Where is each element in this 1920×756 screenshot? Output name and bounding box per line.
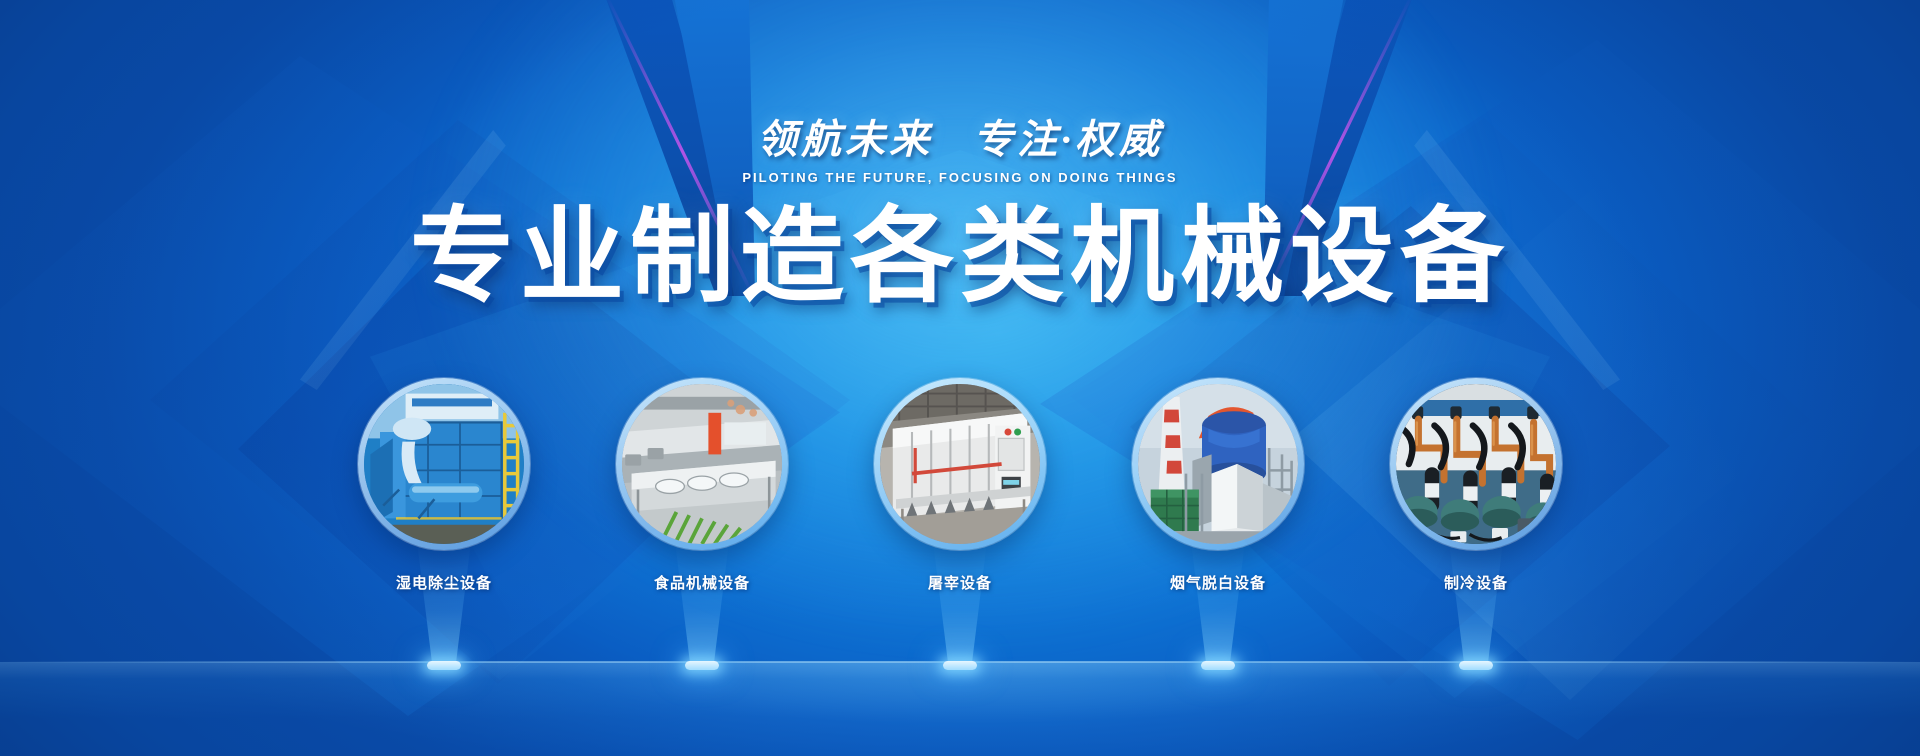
product-item-refrigeration[interactable]: 制冷设备: [1370, 378, 1582, 593]
page-title: 专业制造各类机械设备: [0, 201, 1920, 313]
product-item-slaughtering[interactable]: 屠宰设备: [854, 378, 1066, 593]
food-machinery-photo: [622, 384, 782, 544]
floor-lamp-icon: [1201, 661, 1235, 670]
product-photo-ring: [874, 378, 1046, 550]
product-circle-row: 湿电除尘设备: [0, 378, 1920, 593]
floor-lamp-icon: [1459, 661, 1493, 670]
tagline-chinese-right: 专注·权威: [973, 117, 1163, 162]
floor-lamp-icon: [685, 661, 719, 670]
product-label: 制冷设备: [1444, 572, 1508, 593]
product-photo-ring: [616, 378, 788, 550]
product-photo-ring: [1390, 378, 1562, 550]
wet-electrostatic-precipitator-photo: [364, 384, 524, 544]
product-label: 湿电除尘设备: [396, 572, 492, 593]
stage-floor-reflection: [0, 663, 1920, 756]
headline-block: 领航未来专注·权威 PILOTING THE FUTURE, FOCUSING …: [0, 120, 1920, 313]
refrigeration-equipment-photo: [1396, 384, 1556, 544]
floor-lamp-icon: [427, 661, 461, 670]
floor-lamp-icon: [943, 661, 977, 670]
tagline-chinese: 领航未来专注·权威: [0, 120, 1920, 160]
product-label: 烟气脱白设备: [1170, 572, 1266, 593]
product-item-flue-gas[interactable]: 烟气脱白设备: [1112, 378, 1324, 593]
product-item-wet-dust-removal[interactable]: 湿电除尘设备: [338, 378, 550, 593]
flue-gas-dewhitening-photo: [1138, 384, 1298, 544]
tagline-english: PILOTING THE FUTURE, FOCUSING ON DOING T…: [0, 170, 1920, 185]
slaughtering-equipment-photo: [880, 384, 1040, 544]
promotional-banner: 领航未来专注·权威 PILOTING THE FUTURE, FOCUSING …: [0, 0, 1920, 756]
product-photo-ring: [1132, 378, 1304, 550]
tagline-chinese-left: 领航未来: [757, 117, 933, 162]
product-label: 屠宰设备: [928, 572, 992, 593]
product-item-food-machinery[interactable]: 食品机械设备: [596, 378, 808, 593]
product-photo-ring: [358, 378, 530, 550]
product-label: 食品机械设备: [654, 572, 750, 593]
